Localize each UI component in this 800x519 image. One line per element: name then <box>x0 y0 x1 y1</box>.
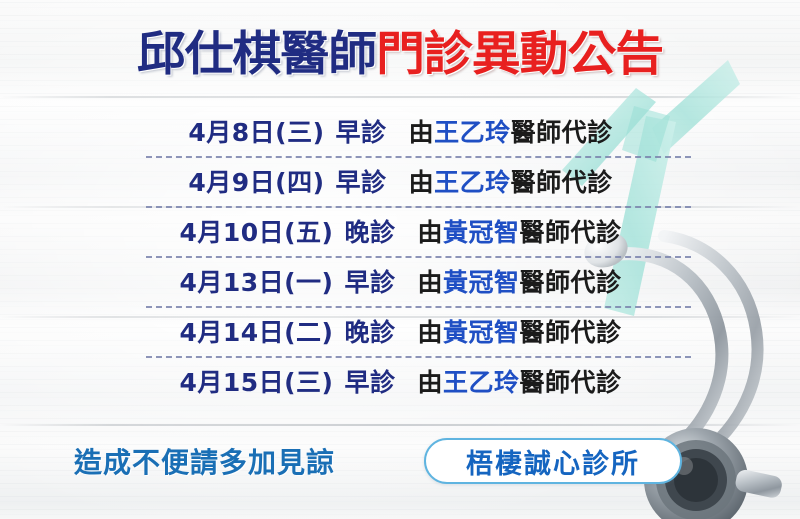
row-substitute-doctor: 黃冠智 <box>443 218 520 247</box>
row-tail-label: 醫師代診 <box>520 368 622 397</box>
clinic-name-badge: 梧棲誠心診所 <box>424 438 682 484</box>
schedule-row: 4月13日(一)早診由黃冠智醫師代診 <box>128 258 673 308</box>
title-notice-text: 門診異動公告 <box>376 27 663 82</box>
row-substitute-doctor: 王乙玲 <box>434 118 511 147</box>
row-tail-label: 醫師代診 <box>520 218 622 247</box>
row-by-label: 由 <box>409 168 435 197</box>
schedule-row: 4月8日(三)早診由王乙玲醫師代診 <box>128 108 673 158</box>
row-tail-label: 醫師代診 <box>520 318 622 347</box>
row-substitute-doctor: 王乙玲 <box>434 168 511 197</box>
row-by-label: 由 <box>418 268 444 297</box>
schedule-row: 4月10日(五)晚診由黃冠智醫師代診 <box>128 208 673 258</box>
row-date: 4月9日(四) <box>188 168 324 197</box>
row-substitute-doctor: 黃冠智 <box>443 268 520 297</box>
row-session: 晚診 <box>344 218 395 247</box>
row-session: 早診 <box>336 118 387 147</box>
row-session: 晚診 <box>344 318 395 347</box>
schedule-row: 4月15日(三)早診由王乙玲醫師代診 <box>128 358 673 408</box>
row-by-label: 由 <box>409 118 435 147</box>
row-tail-label: 醫師代診 <box>511 118 613 147</box>
row-by-label: 由 <box>418 318 444 347</box>
row-date: 4月10日(五) <box>179 218 333 247</box>
schedule-row: 4月14日(二)晚診由黃冠智醫師代診 <box>128 308 673 358</box>
footer: 造成不便請多加見諒 梧棲誠心診所 <box>0 435 800 487</box>
row-date: 4月14日(二) <box>179 318 333 347</box>
row-session: 早診 <box>344 268 395 297</box>
row-date: 4月8日(三) <box>188 118 324 147</box>
title-doctor-name: 邱仕棋醫師 <box>137 27 376 82</box>
row-tail-label: 醫師代診 <box>511 168 613 197</box>
announcement-poster: 邱仕棋醫師門診異動公告 4月8日(三)早診由王乙玲醫師代診 4月9日(四)早診由… <box>0 0 800 519</box>
row-session: 早診 <box>336 168 387 197</box>
row-tail-label: 醫師代診 <box>520 268 622 297</box>
schedule-row: 4月9日(四)早診由王乙玲醫師代診 <box>128 158 673 208</box>
row-substitute-doctor: 王乙玲 <box>443 368 520 397</box>
clinic-name: 梧棲誠心診所 <box>466 442 640 481</box>
row-date: 4月15日(三) <box>179 368 333 397</box>
row-date: 4月13日(一) <box>179 268 333 297</box>
apology-text: 造成不便請多加見諒 <box>74 441 335 481</box>
row-session: 早診 <box>344 368 395 397</box>
schedule-list: 4月8日(三)早診由王乙玲醫師代診 4月9日(四)早診由王乙玲醫師代診 4月10… <box>128 108 673 408</box>
row-substitute-doctor: 黃冠智 <box>443 318 520 347</box>
row-by-label: 由 <box>418 218 444 247</box>
row-by-label: 由 <box>418 368 444 397</box>
page-title: 邱仕棋醫師門診異動公告 <box>0 28 800 82</box>
